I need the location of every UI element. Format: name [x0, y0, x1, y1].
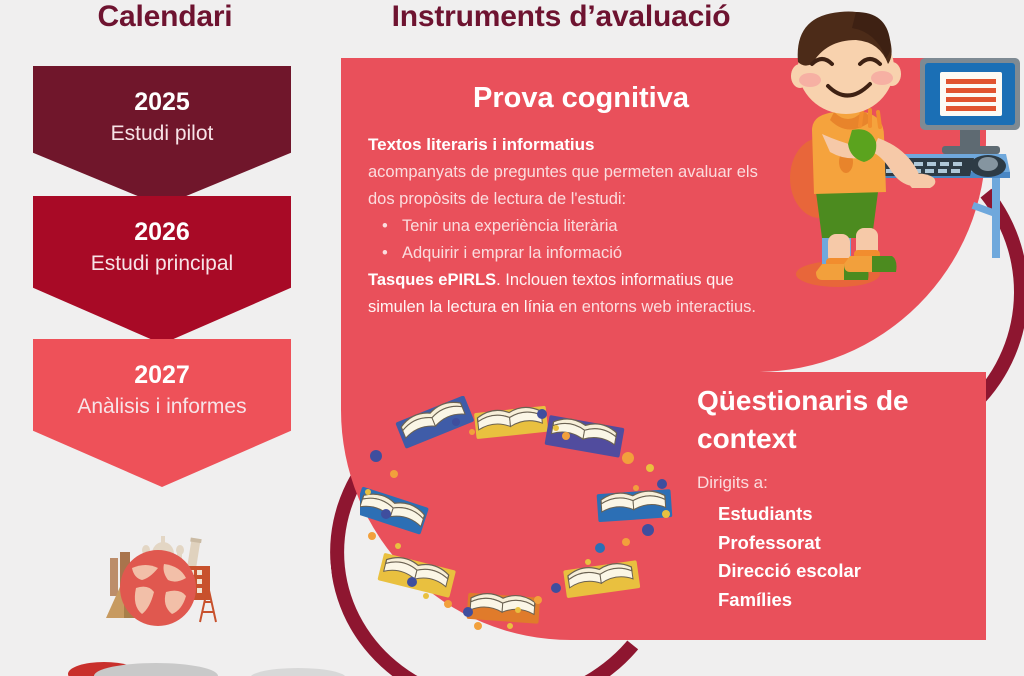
timeline-year: 2025	[33, 66, 291, 116]
timeline-year: 2027	[33, 339, 291, 389]
list-item: Estudiants	[718, 500, 861, 529]
timeline-step-2027: 2027 Anàlisis i informes	[33, 339, 291, 487]
list-item: Tenir una experiència literària	[402, 213, 768, 240]
cognitive-bullet-list: Tenir una experiència literària Adquirir…	[368, 213, 768, 267]
epirls-tail: en entorns web interactius.	[554, 298, 756, 316]
instruments-column-heading: Instruments d’avaluació	[341, 0, 781, 34]
list-item: Adquirir i emprar la informació	[402, 240, 768, 267]
cognitive-test-body: Textos literaris i informatius acompanya…	[368, 131, 768, 321]
timeline-step-2026: 2026 Estudi principal	[33, 196, 291, 344]
cognitive-test-title: Prova cognitiva	[341, 82, 821, 115]
context-questionnaires-title: Qüestionaris de context	[697, 382, 977, 458]
timeline-step-2025: 2025 Estudi pilot	[33, 66, 291, 206]
timeline-phase: Estudi pilot	[33, 116, 291, 147]
epirls-lead: Tasques ePIRLS	[368, 271, 496, 289]
timeline-phase: Anàlisis i informes	[33, 389, 291, 420]
list-item: Direcció escolar	[718, 557, 861, 586]
timeline-year: 2026	[33, 196, 291, 246]
timeline-phase: Estudi principal	[33, 246, 291, 277]
context-audience-intro: Dirigits a:	[697, 473, 768, 493]
cropped-decorative-shapes-icon	[60, 652, 360, 676]
calendar-column-heading: Calendari	[0, 0, 330, 34]
epirls-paragraph: Tasques ePIRLS. Inclouen textos informat…	[368, 267, 768, 321]
infographic-page: Calendari Instruments d’avaluació 2025 E…	[0, 0, 1024, 676]
cognitive-lead: Textos literaris i informatius	[368, 135, 594, 154]
boy-at-computer-icon	[760, 6, 1024, 306]
globe-with-landmarks-icon	[88, 522, 238, 642]
cognitive-intro: acompanyats de preguntes que permeten av…	[368, 159, 768, 213]
context-audience-list: Estudiants Professorat Direcció escolar …	[718, 500, 861, 614]
ring-of-open-books-icon	[360, 396, 690, 640]
cognitive-lead-line: Textos literaris i informatius	[368, 131, 768, 159]
list-item: Professorat	[718, 529, 861, 558]
list-item: Famílies	[718, 586, 861, 615]
